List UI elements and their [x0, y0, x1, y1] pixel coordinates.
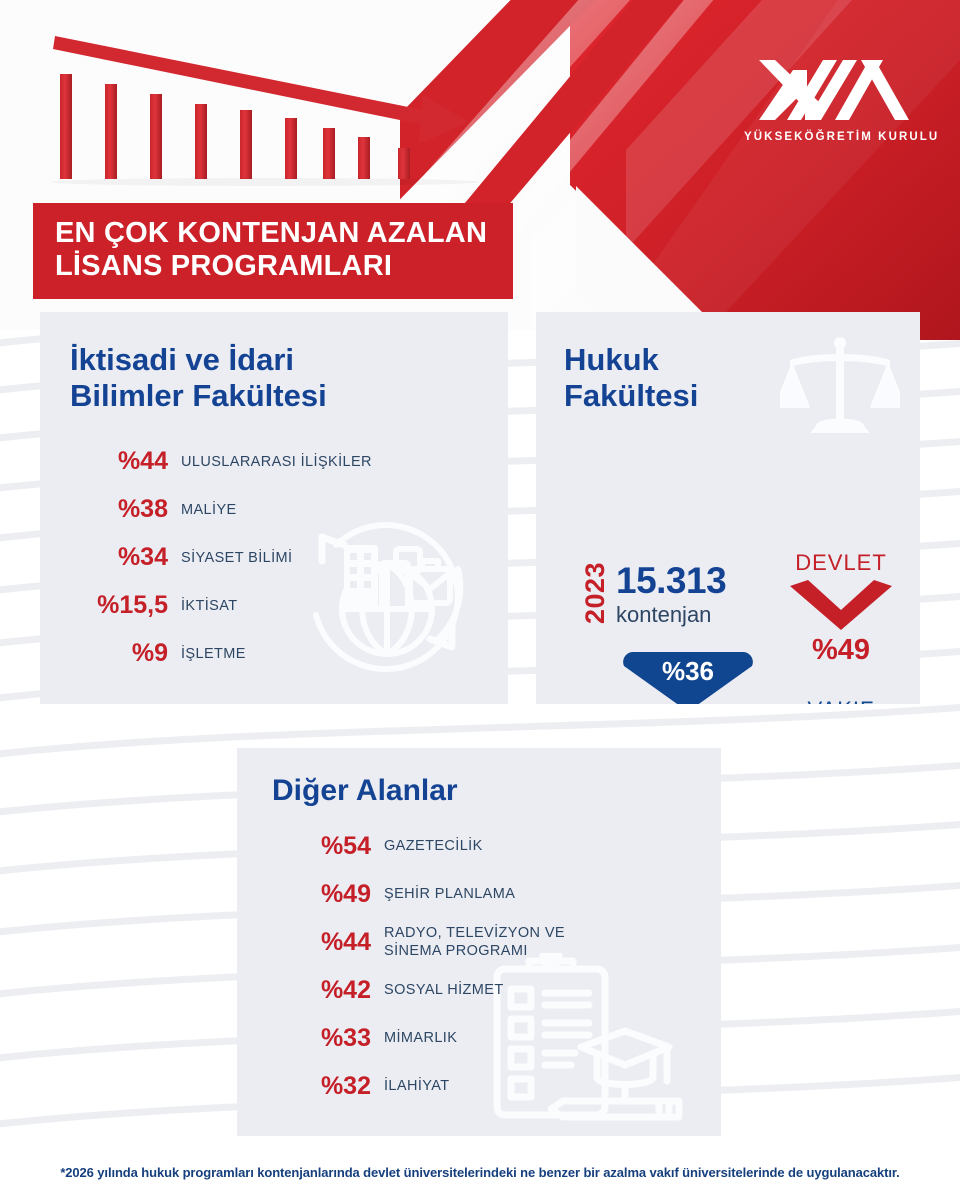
card-hukuk-title-line1: Hukuk: [564, 342, 920, 378]
footer-note: *2026 yılında hukuk programları kontenja…: [60, 1165, 899, 1180]
card-hukuk-title-line2: Fakültesi: [564, 378, 920, 414]
pct-label: İKTİSAT: [181, 598, 238, 614]
devlet-decrease-group: DEVLET %49: [776, 550, 906, 667]
list-item: %34 SİYASET BİLİMİ: [58, 534, 508, 582]
pct-value: %9: [58, 639, 168, 668]
pct-value: %32: [285, 1072, 371, 1101]
yok-logo-icon: [744, 56, 924, 124]
pct-label: ULUSLARARASI İLİŞKİLER: [181, 454, 372, 470]
list-item: %38 MALİYE: [58, 486, 508, 534]
quota-from-value: 15.313: [616, 560, 726, 602]
pct-value: %15,5: [58, 591, 168, 620]
vakif-label: VAKIF: [776, 697, 906, 704]
card-iibf-title: İktisadi ve İdari Bilimler Fakültesi: [40, 312, 508, 414]
declining-bar-chart-icon: [35, 22, 495, 197]
hukuk-stats: 2023 15.313 kontenjan %36 2025 9.821 kon…: [536, 432, 920, 682]
list-item: %44 RADYO, TELEVİZYON VE SİNEMA PROGRAMI: [285, 919, 721, 967]
chevron-down-icon: [776, 580, 906, 632]
logo-text: YÜKSEKÖĞRETİM KURULU: [744, 131, 924, 143]
card-iibf: İktisadi ve İdari Bilimler Fakültesi %44…: [40, 312, 508, 704]
card-hukuk-title: Hukuk Fakültesi: [536, 312, 920, 414]
pct-value: %44: [285, 928, 371, 957]
diger-program-list: %54 GAZETECİLİK %49 ŞEHİR PLANLAMA %44 R…: [237, 823, 721, 1111]
page-title-line2: LİSANS PROGRAMLARI: [55, 250, 491, 283]
quota-from-word: kontenjan: [616, 602, 711, 628]
list-item: %9 İŞLETME: [58, 630, 508, 678]
pct-label: İLAHİYAT: [384, 1078, 450, 1096]
yok-logo: YÜKSEKÖĞRETİM KURULU: [744, 56, 924, 143]
pct-value: %33: [285, 1024, 371, 1053]
pct-label: GAZETECİLİK: [384, 838, 483, 856]
pct-value: %54: [285, 832, 371, 861]
list-item: %49 ŞEHİR PLANLAMA: [285, 871, 721, 919]
decrease-badge-value: %36: [622, 656, 754, 687]
pct-label: SOSYAL HİZMET: [384, 982, 504, 1000]
page-title-banner: EN ÇOK KONTENJAN AZALAN LİSANS PROGRAMLA…: [33, 203, 513, 299]
vakif-decrease-group: VAKIF %10*: [776, 697, 906, 704]
pct-label: RADYO, TELEVİZYON VE SİNEMA PROGRAMI: [384, 925, 565, 960]
pct-label: MİMARLIK: [384, 1030, 457, 1048]
iibf-program-list: %44 ULUSLARARASI İLİŞKİLER %38 MALİYE %3…: [40, 438, 508, 678]
devlet-pct: %49: [776, 634, 906, 667]
list-item: %33 MİMARLIK: [285, 1015, 721, 1063]
decrease-triangle-badge: %36: [622, 650, 754, 704]
card-diger-alanlar: Diğer Alanlar %54 GAZETECİLİK %49 ŞEHİR …: [237, 748, 721, 1136]
pct-value: %49: [285, 880, 371, 909]
footer-note-bar: *2026 yılında hukuk programları kontenja…: [0, 1144, 960, 1200]
pct-value: %38: [58, 495, 168, 524]
list-item: %32 İLAHİYAT: [285, 1063, 721, 1111]
pct-label: ŞEHİR PLANLAMA: [384, 886, 515, 904]
list-item: %54 GAZETECİLİK: [285, 823, 721, 871]
card-diger-title: Diğer Alanlar: [237, 748, 721, 809]
pct-value: %44: [58, 447, 168, 476]
card-iibf-title-line2: Bilimler Fakültesi: [70, 378, 508, 414]
list-item: %42 SOSYAL HİZMET: [285, 967, 721, 1015]
list-item: %44 ULUSLARARASI İLİŞKİLER: [58, 438, 508, 486]
card-hukuk: Hukuk Fakültesi 2023 15.313 kontenjan %3…: [536, 312, 920, 704]
pct-label: İŞLETME: [181, 646, 246, 662]
page-title-line1: EN ÇOK KONTENJAN AZALAN: [55, 217, 491, 250]
pct-label: MALİYE: [181, 502, 237, 518]
pct-value: %34: [58, 543, 168, 572]
pct-label: SİYASET BİLİMİ: [181, 550, 292, 566]
devlet-label: DEVLET: [776, 550, 906, 576]
card-iibf-title-line1: İktisadi ve İdari: [70, 342, 508, 378]
list-item: %15,5 İKTİSAT: [58, 582, 508, 630]
year-from-label: 2023: [580, 562, 611, 624]
pct-value: %42: [285, 976, 371, 1005]
